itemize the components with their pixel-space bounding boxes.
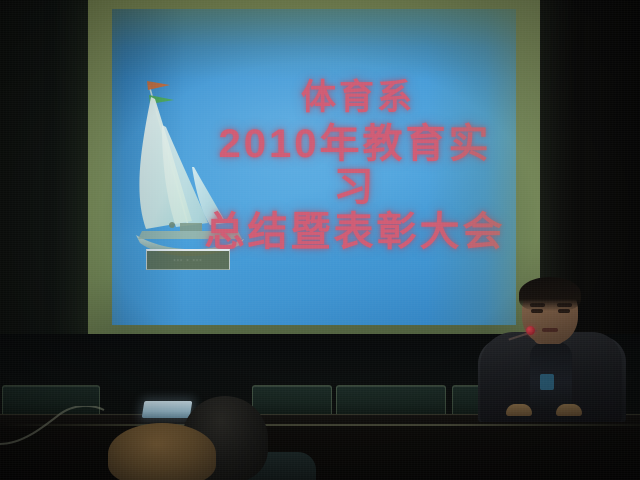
slide-title-line-2: 2010年教育实习 [200, 123, 510, 209]
presentation-slide: 体育系 2010年教育实习 总结暨表彰大会 ··· · ··· [112, 9, 516, 325]
speaker-eyebrow-left [530, 303, 545, 307]
audience-head-brown-hair [108, 423, 216, 480]
slide-title-line-3: 总结暨表彰大会 [200, 211, 510, 254]
slide-footer-box: ··· · ··· [146, 249, 230, 270]
speaker-eyebrow-right [557, 303, 572, 307]
photo-scene: 体育系 2010年教育实习 总结暨表彰大会 ··· · ··· [0, 0, 640, 480]
speaker-mouth [542, 328, 558, 332]
microphone-icon [526, 326, 535, 335]
speaker-shirt-graphic [540, 374, 554, 390]
projection-screen: 体育系 2010年教育实习 总结暨表彰大会 ··· · ··· [88, 0, 540, 334]
slide-footer-text: ··· · ··· [173, 257, 202, 264]
slide-title: 体育系 2010年教育实习 总结暨表彰大会 [200, 79, 510, 254]
seated-speaker [478, 276, 628, 421]
table-edge-highlight [0, 424, 640, 426]
speaker-eye-left [531, 309, 543, 313]
speaker-hand-left [506, 404, 532, 416]
speaker-hand-right [556, 404, 582, 416]
speaker-eye-right [558, 309, 570, 313]
wall-left-panel [0, 0, 92, 340]
slide-title-line-1: 体育系 [200, 79, 510, 117]
open-laptop-screen [142, 401, 193, 418]
